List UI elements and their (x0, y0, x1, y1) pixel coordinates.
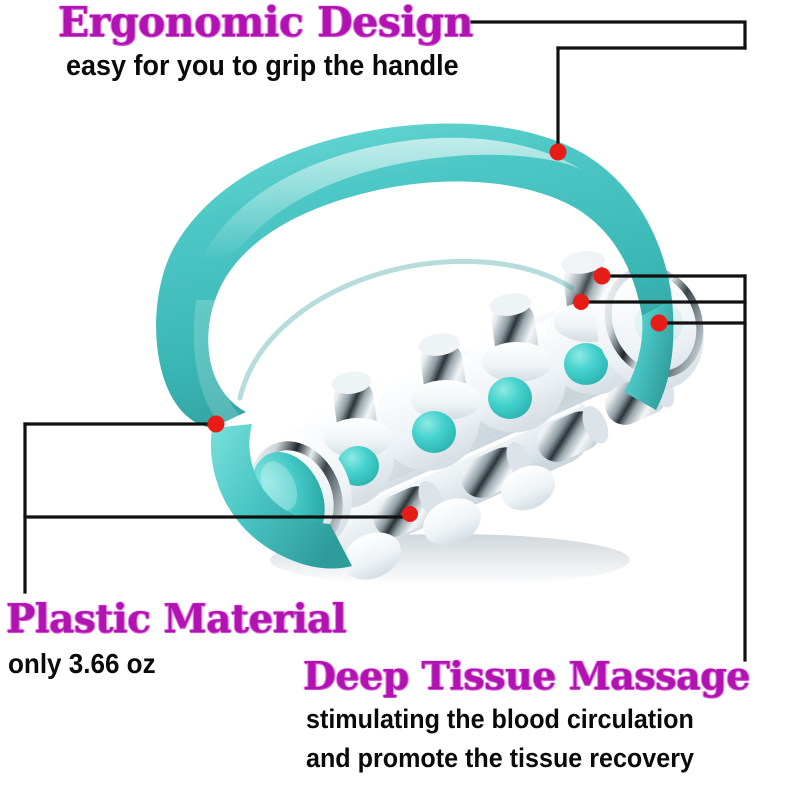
callout-ergonomic-design: Ergonomic Design easy for you to grip th… (58, 2, 488, 83)
callout-plastic-subline: only 3.66 oz (8, 647, 323, 680)
callout-deep-subline-1: stimulating the blood circulation (306, 704, 719, 736)
leader-ergonomic-top (470, 22, 745, 48)
infographic-canvas: Ergonomic Design easy for you to grip th… (0, 0, 800, 800)
callout-plastic-headline: Plastic Material (6, 600, 346, 639)
marker-deep-1 (594, 268, 611, 285)
callout-ergonomic-subline: easy for you to grip the handle (66, 49, 459, 83)
marker-plastic-1 (208, 416, 225, 433)
callout-markers (208, 144, 668, 523)
callout-plastic-material: Plastic Material only 3.66 oz (6, 600, 346, 680)
callout-deep-headline: Deep Tissue Massage (303, 657, 750, 695)
marker-plastic-2 (402, 506, 418, 522)
callout-deep-tissue-massage: Deep Tissue Massage stimulating the bloo… (303, 657, 750, 775)
marker-deep-3 (651, 315, 668, 332)
callout-deep-subline-2: and promote the tissue recovery (306, 743, 719, 775)
marker-deep-2 (573, 294, 589, 310)
marker-ergonomic (550, 144, 567, 161)
callout-ergonomic-headline: Ergonomic Design (58, 2, 488, 43)
